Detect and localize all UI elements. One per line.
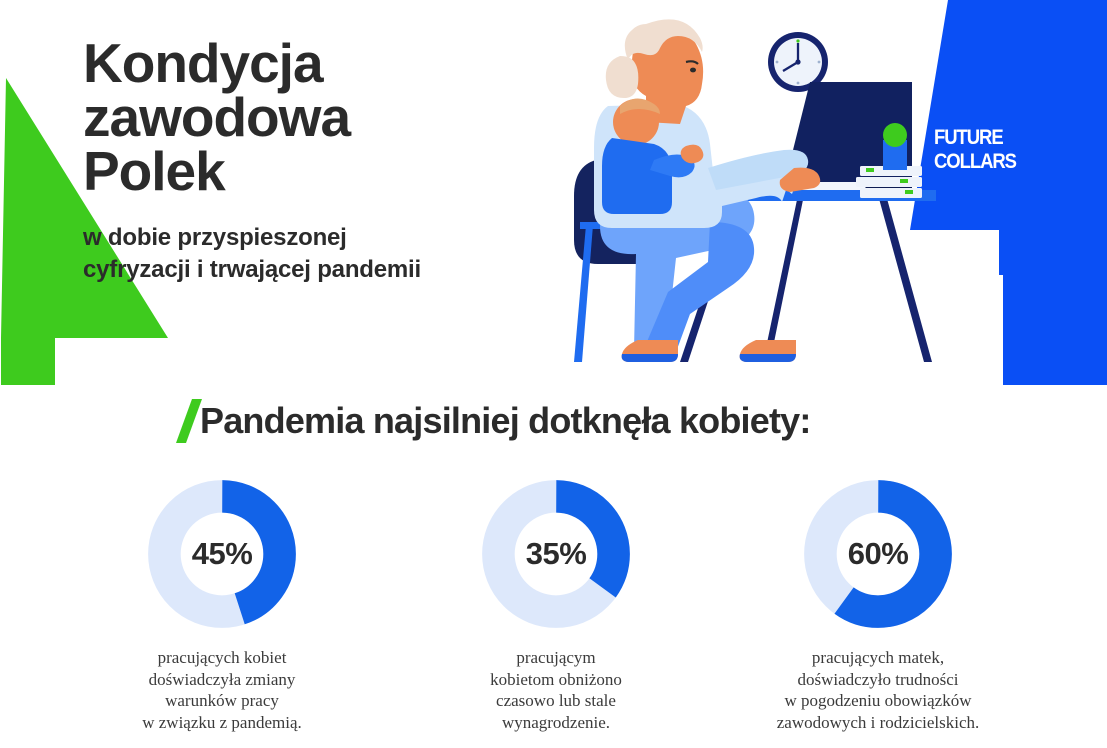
- donut-caption-2: pracującym kobietom obniżono czasowo lub…: [396, 647, 716, 733]
- page-title: Kondycja zawodowa Polek: [83, 36, 350, 198]
- brand-logo: FUTURE COLLARS: [934, 126, 1086, 174]
- donut-value-3: 60%: [802, 478, 954, 630]
- green-slash-icon: [176, 399, 202, 443]
- header: Kondycja zawodowa Polek w dobie przyspie…: [0, 0, 1107, 385]
- infographic-page: Kondycja zawodowa Polek w dobie przyspie…: [0, 0, 1107, 746]
- book-stack-icon: [856, 166, 922, 198]
- stat-card-1: 45% pracujących kobiet doświadczyła zmia…: [62, 478, 382, 733]
- donut-value-1: 45%: [146, 478, 298, 630]
- section-heading: Pandemia najsilniej dotknęła kobiety:: [200, 400, 811, 442]
- stat-card-2: 35% pracującym kobietom obniżono czasowo…: [396, 478, 716, 733]
- illustration-woman-at-desk: [560, 10, 980, 370]
- green-circle-plant-icon: [883, 123, 907, 170]
- donut-chart-1: 45%: [146, 478, 298, 630]
- page-subtitle: w dobie przyspieszonej cyfryzacji i trwa…: [83, 222, 421, 286]
- donut-caption-3: pracujących matek, doświadczyło trudnośc…: [718, 647, 1038, 733]
- donut-chart-row: 45% pracujących kobiet doświadczyła zmia…: [0, 478, 1107, 748]
- donut-chart-3: 60%: [802, 478, 954, 630]
- donut-chart-2: 35%: [480, 478, 632, 630]
- donut-value-2: 35%: [480, 478, 632, 630]
- donut-caption-1: pracujących kobiet doświadczyła zmiany w…: [62, 647, 382, 733]
- stat-card-3: 60% pracujących matek, doświadczyło trud…: [718, 478, 1038, 733]
